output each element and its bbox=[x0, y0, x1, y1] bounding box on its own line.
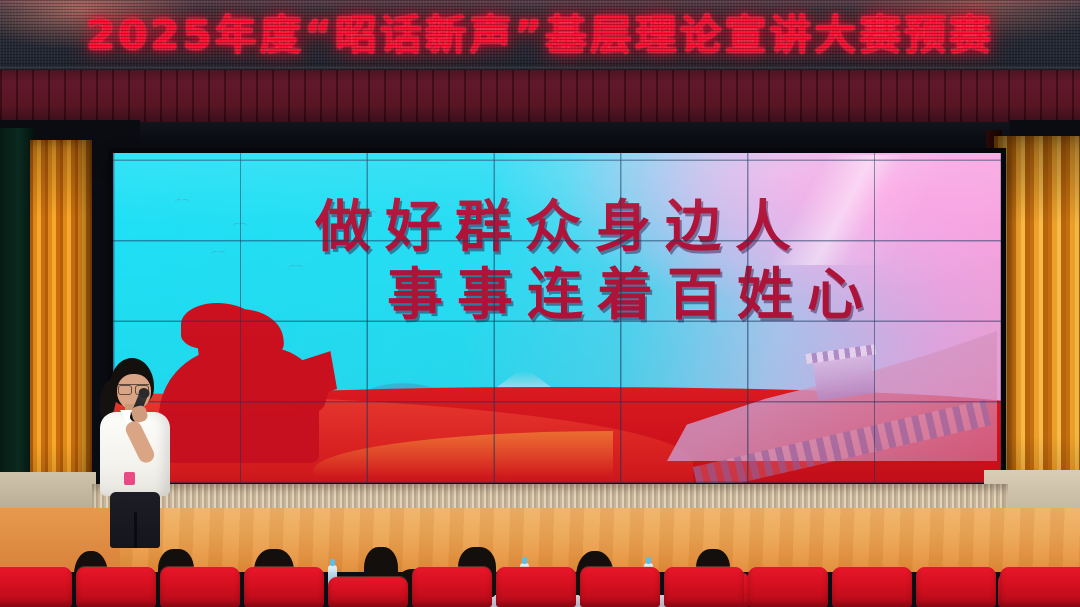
bird-icon bbox=[233, 223, 247, 228]
speaker-person bbox=[88, 358, 184, 548]
bird-icon bbox=[211, 251, 225, 256]
led-banner-text: 2025年度“昭话新声”基层理论宣讲大赛预赛 bbox=[0, 9, 1080, 61]
audience-seat bbox=[76, 567, 156, 607]
pelmet-shadow bbox=[0, 122, 1080, 152]
slat-wall-panel bbox=[92, 484, 1008, 510]
audience-seat bbox=[664, 567, 744, 607]
audience-seat bbox=[0, 567, 72, 607]
bird-icon bbox=[175, 199, 189, 204]
audience-seat bbox=[412, 567, 492, 607]
audience-seat bbox=[748, 567, 828, 607]
audience-seat bbox=[160, 567, 240, 607]
audience-seat bbox=[832, 567, 912, 607]
audience-seat bbox=[244, 567, 324, 607]
bird-icon bbox=[289, 265, 303, 270]
audience-seating-area bbox=[0, 548, 1080, 607]
bird-icon bbox=[363, 211, 377, 216]
led-banner: 2025年度“昭话新声”基层理论宣讲大赛预赛 bbox=[0, 0, 1080, 70]
speaker-leg-split bbox=[134, 512, 137, 548]
video-wall-screen: 做好群众身边人 事事连着百姓心 bbox=[113, 153, 1001, 483]
auditorium-stage-photo: 2025年度“昭话新声”基层理论宣讲大赛预赛 bbox=[0, 0, 1080, 607]
upper-wall-pelmet bbox=[0, 70, 1080, 128]
audience-seat bbox=[916, 567, 996, 607]
audience-seat bbox=[328, 577, 408, 607]
audience-seat bbox=[496, 567, 576, 607]
audience-seat bbox=[1000, 567, 1080, 607]
audience-seat bbox=[580, 567, 660, 607]
screen-rainbow bbox=[671, 155, 1001, 265]
speaker-badge bbox=[124, 472, 135, 485]
video-wall-frame: 做好群众身边人 事事连着百姓心 bbox=[110, 150, 1004, 486]
screen-great-wall-tower bbox=[812, 353, 875, 401]
